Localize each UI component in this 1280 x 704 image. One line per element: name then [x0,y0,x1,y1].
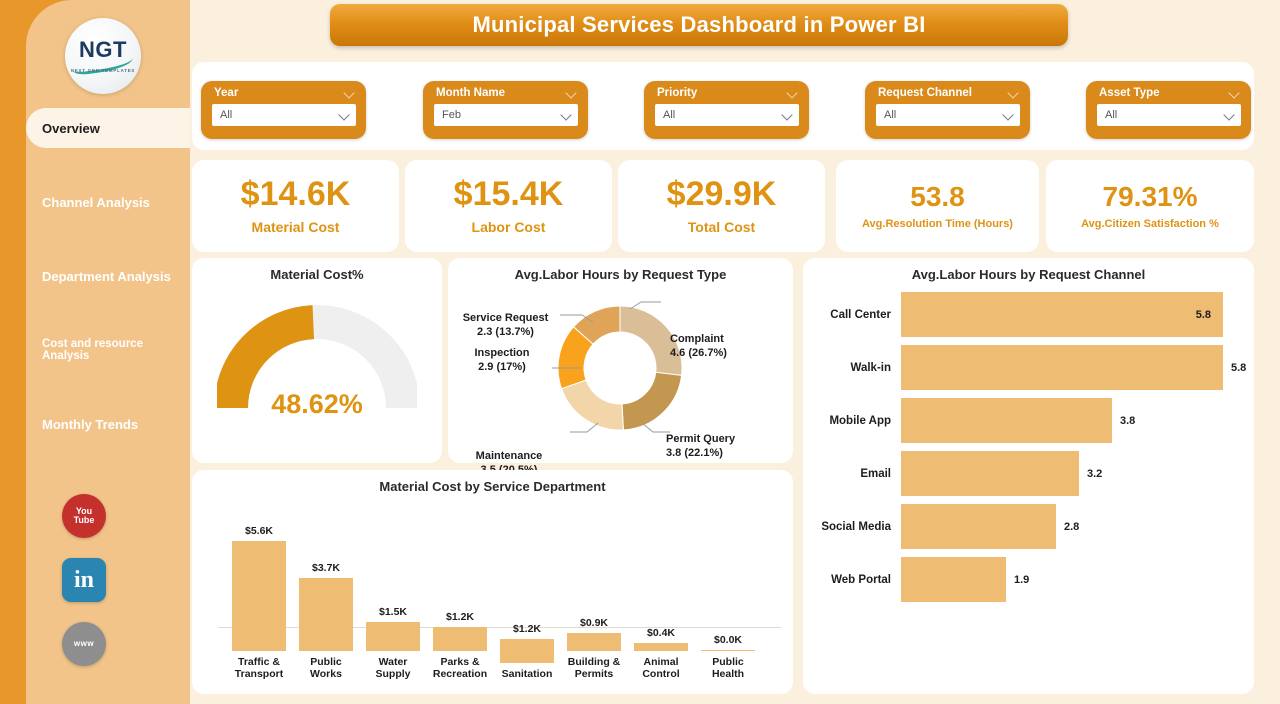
slicer-dropdown[interactable]: All [876,104,1020,126]
slicer-header: Year [201,81,366,101]
donut-label-line2: 2.9 (17%) [450,360,554,374]
sidebar: NGT NEXT GEN TEMPLATES Overview Channel … [0,0,190,704]
chevron-down-icon[interactable] [783,111,792,120]
bar-value-label: 3.8 [1120,415,1135,427]
kpi-label: Avg.Citizen Satisfaction % [1081,218,1219,230]
donut-label-line1: Inspection [450,346,554,360]
column-plot: $5.6KTraffic &Transport$3.7KPublicWorks$… [192,494,793,680]
column-category-label: Sanitation [496,668,558,680]
bar-row[interactable]: Mobile App3.8 [803,394,1254,447]
sidebar-item-monthly-trends[interactable]: Monthly Trends [26,404,190,444]
bar-rect[interactable]: 5.8 [901,292,1223,337]
column-bar[interactable] [232,541,286,651]
logo-subtitle: NEXT GEN TEMPLATES [71,68,135,73]
bar-value-label: 1.9 [1014,574,1029,586]
column-value-label: $1.2K [496,623,558,635]
chart-title: Avg.Labor Hours by Request Channel [803,258,1254,282]
slicer-value: All [220,109,232,121]
donut-label-line1: Permit Query [666,432,735,446]
column-item[interactable]: $0.0KPublicHealth [697,634,759,680]
column-bar[interactable] [433,627,487,651]
column-item[interactable]: $0.4KAnimalControl [630,627,692,680]
donut-label-line1: Maintenance [450,449,568,463]
donut-label-line1: Complaint [670,332,727,346]
donut-label-line2: 2.3 (13.7%) [448,325,563,339]
bar-value-label: 3.2 [1087,468,1102,480]
slicer-value: All [1105,109,1117,121]
donut-label-service-request: Service Request 2.3 (13.7%) [448,311,563,339]
bar-row[interactable]: Social Media2.8 [803,500,1254,553]
chevron-down-icon[interactable] [562,111,571,120]
slicer-label: Month Name [436,87,505,99]
chart-title: Material Cost% [192,258,442,282]
bar-value-label: 5.8 [1231,362,1246,374]
donut-label-line1: Service Request [448,311,563,325]
kpi-label: Avg.Resolution Time (Hours) [862,218,1013,230]
sidebar-item-department-analysis[interactable]: Department Analysis [26,256,190,296]
bar-category-label: Web Portal [803,574,901,586]
column-category-label: AnimalControl [630,656,692,680]
slicer-year[interactable]: Year All [201,81,366,139]
bar-value-label: 2.8 [1064,521,1079,533]
kpi-label: Labor Cost [472,219,546,235]
bar-rect[interactable] [901,451,1079,496]
slicer-value: All [663,109,675,121]
column-value-label: $5.6K [228,525,290,537]
bar-category-label: Email [803,468,901,480]
column-card-material-cost-by-department[interactable]: Material Cost by Service Department $5.6… [192,470,793,694]
column-bar[interactable] [299,578,353,651]
slicer-asset-type[interactable]: Asset Type All [1086,81,1251,139]
website-glyph: www [74,640,94,648]
page-title: Municipal Services Dashboard in Power BI [472,12,925,38]
kpi-value: 79.31% [1103,182,1198,211]
column-item[interactable]: $1.2KParks &Recreation [429,611,491,680]
kpi-label: Total Cost [688,219,755,235]
bar-plot: Call Center5.8Walk-in5.8Mobile App3.8Ema… [803,282,1254,674]
social-links: You Tube in www [62,494,106,666]
youtube-icon[interactable]: You Tube [62,494,106,538]
slicer-request-channel[interactable]: Request Channel All [865,81,1030,139]
sidebar-nav: Overview Channel Analysis Department Ana… [26,108,190,478]
bar-value-label: 5.8 [1196,309,1211,321]
sidebar-item-overview[interactable]: Overview [26,108,190,148]
slicer-header: Month Name [423,81,588,101]
donut-label-line2: 3.8 (22.1%) [666,446,735,460]
column-item[interactable]: $1.5KWaterSupply [362,606,424,680]
kpi-card-labor-cost[interactable]: $15.4K Labor Cost [405,160,612,252]
sidebar-item-label: Overview [42,121,100,136]
kpi-value: $15.4K [454,177,564,213]
column-value-label: $1.2K [429,611,491,623]
slicer-value: Feb [442,109,461,121]
sidebar-item-cost-and-resource-analysis[interactable]: Cost and resource Analysis [26,330,190,370]
column-category-label: Traffic &Transport [228,656,290,680]
bar-rect[interactable] [901,398,1112,443]
kpi-card-material-cost[interactable]: $14.6K Material Cost [192,160,399,252]
column-value-label: $0.4K [630,627,692,639]
bar-row[interactable]: Email3.2 [803,447,1254,500]
chevron-down-icon[interactable] [1009,89,1018,98]
slicer-header: Priority [644,81,809,101]
kpi-value: 53.8 [910,182,965,211]
column-value-label: $3.7K [295,562,357,574]
chevron-down-icon[interactable] [788,89,797,98]
sidebar-item-label: Monthly Trends [42,417,138,432]
bar-rect[interactable] [901,345,1223,390]
dashboard-root: NGT NEXT GEN TEMPLATES Overview Channel … [0,0,1280,704]
kpi-value: $14.6K [241,177,351,213]
sidebar-item-channel-analysis[interactable]: Channel Analysis [26,182,190,222]
slicer-label: Asset Type [1099,87,1160,99]
donut-label-inspection: Inspection 2.9 (17%) [450,346,554,374]
column-category-label: Building &Permits [563,656,625,680]
column-bar[interactable] [701,650,755,651]
kpi-value: $29.9K [667,177,777,213]
slicer-label: Year [214,87,238,99]
kpi-label: Material Cost [252,219,340,235]
kpi-card-avg-citizen-satisfaction[interactable]: 79.31% Avg.Citizen Satisfaction % [1046,160,1254,252]
column-value-label: $0.9K [563,617,625,629]
bar-category-label: Walk-in [803,362,901,374]
column-bar[interactable] [634,643,688,651]
column-category-label: WaterSupply [362,656,424,680]
column-item[interactable]: $0.9KBuilding &Permits [563,617,625,680]
donut-slice[interactable] [562,380,624,430]
column-bar[interactable] [366,622,420,651]
bar-card-labor-hours-by-request-channel[interactable]: Avg.Labor Hours by Request Channel Call … [803,258,1254,694]
chevron-down-icon[interactable] [340,111,349,120]
column-item[interactable]: $1.2KSanitation [496,623,558,680]
donut-label-permit-query: Permit Query 3.8 (22.1%) [666,432,735,460]
column-value-label: $0.0K [697,634,759,646]
column-category-label: PublicWorks [295,656,357,680]
sidebar-item-label: Channel Analysis [42,195,150,210]
page-title-banner: Municipal Services Dashboard in Power BI [330,4,1068,46]
bar-category-label: Call Center [803,309,901,321]
gauge-visual: 48.62% [217,304,417,414]
column-value-label: $1.5K [362,606,424,618]
slicer-dropdown[interactable]: All [1097,104,1241,126]
bar-rect[interactable] [901,504,1056,549]
website-globe-icon[interactable]: www [62,622,106,666]
youtube-line2: Tube [74,516,95,526]
gauge-card-material-cost-pct[interactable]: Material Cost% 48.62% [192,258,442,463]
donut-label-line2: 4.6 (26.7%) [670,346,727,360]
slicer-priority[interactable]: Priority All [644,81,809,139]
donut-card-labor-hours-by-request-type[interactable]: Avg.Labor Hours by Request Type Complain… [448,258,793,463]
bar-row[interactable]: Call Center5.8 [803,288,1254,341]
kpi-card-avg-resolution-time[interactable]: 53.8 Avg.Resolution Time (Hours) [836,160,1039,252]
slicer-header: Asset Type [1086,81,1251,101]
bar-category-label: Mobile App [803,415,901,427]
logo-text: NGT [79,39,127,61]
chevron-down-icon[interactable] [1225,111,1234,120]
column-category-label: Parks &Recreation [429,656,491,680]
donut-label-complaint: Complaint 4.6 (26.7%) [670,332,727,360]
slicer-label: Request Channel [878,87,972,99]
chevron-down-icon[interactable] [567,89,576,98]
sidebar-item-label: Cost and resource Analysis [42,338,190,362]
column-item[interactable]: $3.7KPublicWorks [295,562,357,680]
linkedin-glyph: in [74,567,94,594]
column-item[interactable]: $5.6KTraffic &Transport [228,525,290,680]
donut-visual: Complaint 4.6 (26.7%) Permit Query 3.8 (… [448,282,793,457]
gauge-value-label: 48.62% [217,389,417,420]
donut-slice[interactable] [622,372,682,430]
chart-title: Avg.Labor Hours by Request Type [448,258,793,282]
bar-row[interactable]: Walk-in5.8 [803,341,1254,394]
column-category-label: PublicHealth [697,656,759,680]
slicer-month-name[interactable]: Month Name Feb [423,81,588,139]
logo: NGT NEXT GEN TEMPLATES [65,18,141,94]
slicer-panel: Year All Month Name Feb Priority [192,62,1254,150]
slicer-dropdown[interactable]: Feb [434,104,578,126]
column-bar[interactable] [567,633,621,651]
slicer-value: All [884,109,896,121]
bar-row[interactable]: Web Portal1.9 [803,553,1254,606]
column-bar[interactable] [500,639,554,663]
chevron-down-icon[interactable] [1004,111,1013,120]
kpi-card-total-cost[interactable]: $29.9K Total Cost [618,160,825,252]
chevron-down-icon[interactable] [1230,89,1239,98]
chart-title: Material Cost by Service Department [192,470,793,494]
linkedin-icon[interactable]: in [62,558,106,602]
slicer-label: Priority [657,87,697,99]
slicer-dropdown[interactable]: All [212,104,356,126]
chevron-down-icon[interactable] [345,89,354,98]
bar-category-label: Social Media [803,521,901,533]
slicer-dropdown[interactable]: All [655,104,799,126]
bar-rect[interactable] [901,557,1006,602]
slicer-header: Request Channel [865,81,1030,101]
sidebar-item-label: Department Analysis [42,269,171,284]
